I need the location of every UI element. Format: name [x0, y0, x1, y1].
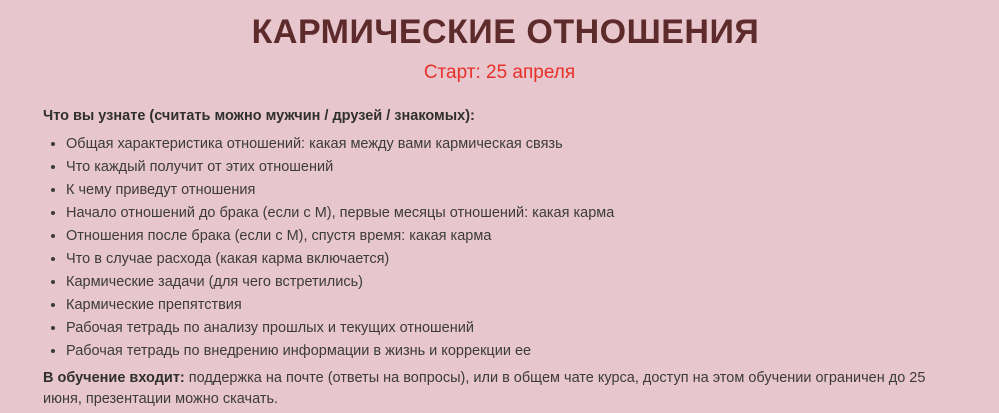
- bullet-icon: [51, 303, 55, 307]
- learning-outcomes-list: Общая характеристика отношений: какая ме…: [43, 135, 959, 361]
- list-item: Что в случае расхода (какая карма включа…: [43, 250, 959, 269]
- list-item: К чему приведут отношения: [43, 181, 959, 200]
- bullet-icon: [51, 165, 55, 169]
- learning-outcomes-heading: Что вы узнате (считать можно мужчин / др…: [43, 106, 959, 126]
- bullet-icon: [51, 326, 55, 330]
- list-item-label: К чему приведут отношения: [66, 182, 255, 198]
- list-item: Рабочая тетрадь по внедрению информации …: [43, 342, 959, 361]
- bullet-icon: [51, 349, 55, 353]
- list-item-label: Общая характеристика отношений: какая ме…: [66, 136, 563, 152]
- list-item: Рабочая тетрадь по анализу прошлых и тек…: [43, 319, 959, 338]
- includes-paragraph: В обучение входит: поддержка на почте (о…: [43, 368, 959, 410]
- course-info-page: КАРМИЧЕСКИЕ ОТНОШЕНИЯ Старт: 25 апреля Ч…: [0, 0, 999, 413]
- list-item: Кармические препятствия: [43, 296, 959, 315]
- bullet-icon: [51, 211, 55, 215]
- list-item: Отношения после брака (если с М), спустя…: [43, 227, 959, 246]
- list-item: Начало отношений до брака (если с М), пе…: [43, 204, 959, 223]
- list-item-label: Что каждый получит от этих отношений: [66, 159, 333, 175]
- bullet-icon: [51, 280, 55, 284]
- start-date-text: Старт: 25 апреля: [0, 62, 999, 84]
- list-item: Общая характеристика отношений: какая ме…: [43, 135, 959, 154]
- bullet-icon: [51, 142, 55, 146]
- list-item-label: Рабочая тетрадь по анализу прошлых и тек…: [66, 320, 474, 336]
- list-item: Что каждый получит от этих отношений: [43, 158, 959, 177]
- includes-label: В обучение входит:: [43, 370, 185, 386]
- bullet-icon: [51, 188, 55, 192]
- list-item-label: Отношения после брака (если с М), спустя…: [66, 228, 491, 244]
- list-item-label: Начало отношений до брака (если с М), пе…: [66, 205, 614, 221]
- page-title: КАРМИЧЕСКИЕ ОТНОШЕНИЯ: [0, 12, 999, 52]
- list-item-label: Кармические препятствия: [66, 297, 242, 313]
- list-item-label: Рабочая тетрадь по внедрению информации …: [66, 343, 531, 359]
- page-content: Что вы узнате (считать можно мужчин / др…: [0, 84, 999, 410]
- list-item: Кармические задачи (для чего встретились…: [43, 273, 959, 292]
- bullet-icon: [51, 234, 55, 238]
- list-item-label: Что в случае расхода (какая карма включа…: [66, 251, 389, 267]
- bullet-icon: [51, 257, 55, 261]
- page-header: КАРМИЧЕСКИЕ ОТНОШЕНИЯ Старт: 25 апреля: [0, 0, 999, 84]
- list-item-label: Кармические задачи (для чего встретились…: [66, 274, 363, 290]
